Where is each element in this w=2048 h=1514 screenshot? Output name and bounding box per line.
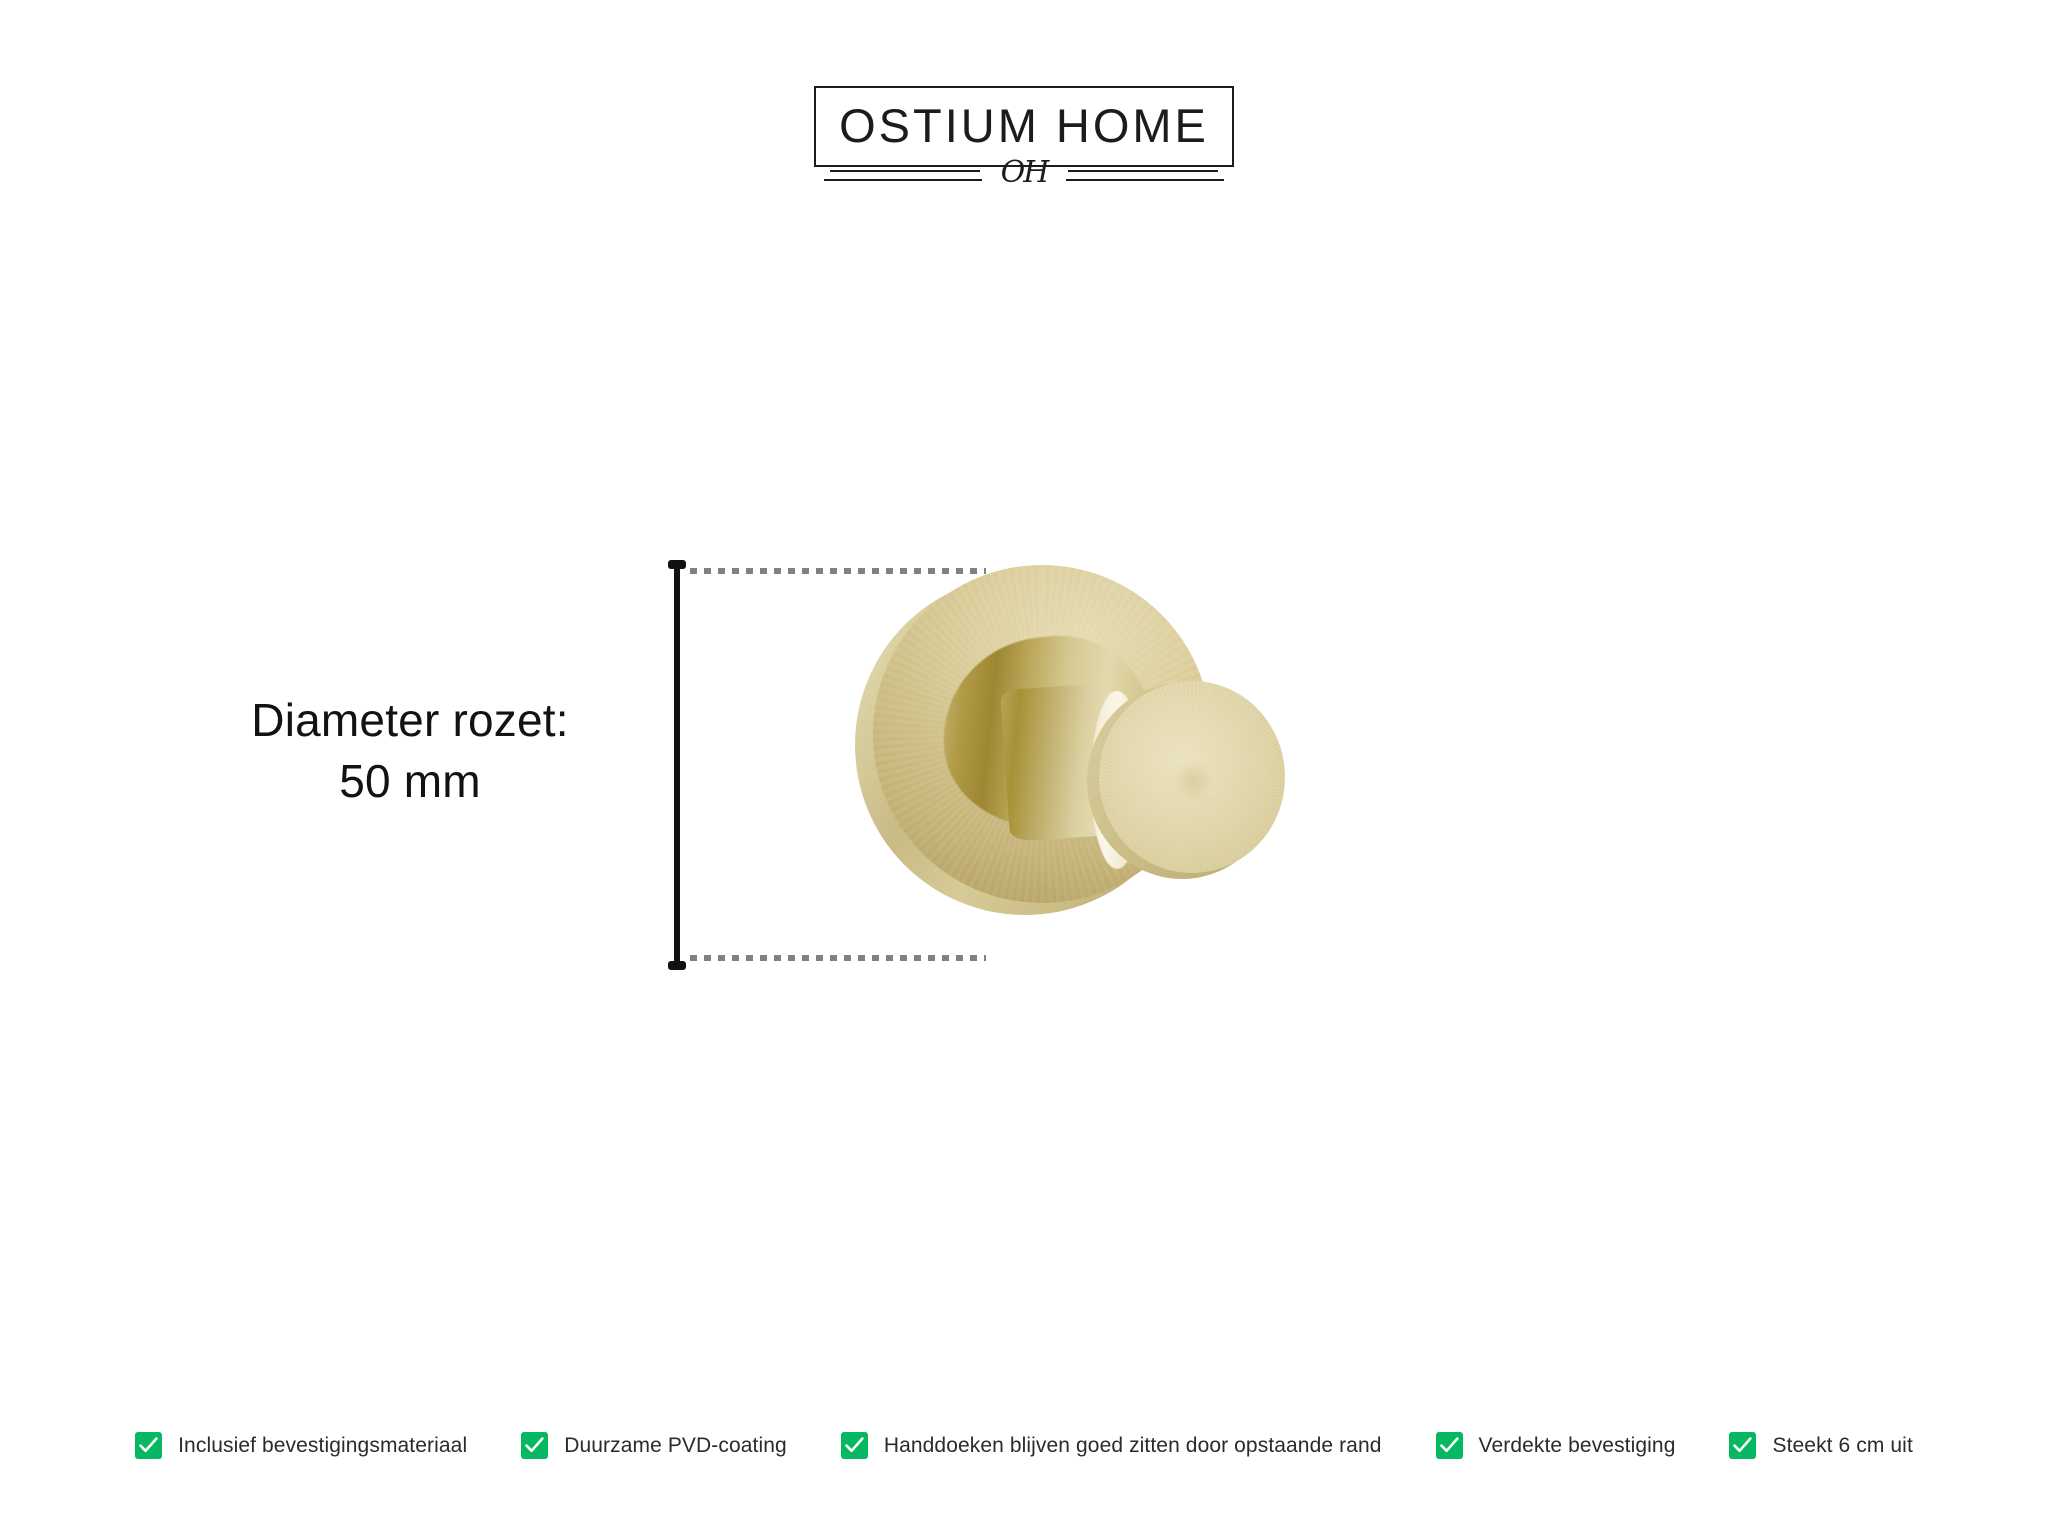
logo-rule-left-upper <box>830 170 980 172</box>
check-icon <box>135 1432 162 1459</box>
feature-item: Duurzame PVD-coating <box>521 1432 787 1459</box>
feature-item: Inclusief bevestigingsmateriaal <box>135 1432 467 1459</box>
dimension-label: Diameter rozet: 50 mm <box>170 690 650 812</box>
feature-item: Verdekte bevestiging <box>1436 1432 1676 1459</box>
logo-rule-right-upper <box>1068 170 1218 172</box>
check-icon <box>1729 1432 1756 1459</box>
feature-bar: Inclusief bevestigingsmateriaal Duurzame… <box>0 1432 2048 1459</box>
logo-rule-right-lower <box>1066 179 1224 181</box>
check-icon <box>841 1432 868 1459</box>
product-dimension-card: OSTIUM HOME OH Diameter rozet: 50 mm <box>0 0 2048 1514</box>
dimension-label-line1: Diameter rozet: <box>170 690 650 751</box>
brand-monogram: OH <box>1001 155 1048 190</box>
brand-wordmark: OSTIUM HOME <box>826 102 1222 149</box>
dimension-label-line2: 50 mm <box>170 751 650 812</box>
brand-logo: OSTIUM HOME OH <box>814 86 1234 201</box>
product-image-brass-hook <box>855 565 1275 965</box>
dimension-cap-bottom <box>668 961 686 970</box>
check-icon <box>1436 1432 1463 1459</box>
feature-item: Handdoeken blijven goed zitten door opst… <box>841 1432 1382 1459</box>
feature-label: Duurzame PVD-coating <box>564 1434 787 1458</box>
feature-label: Inclusief bevestigingsmateriaal <box>178 1434 467 1458</box>
logo-underbar: OH <box>824 167 1224 201</box>
feature-label: Handdoeken blijven goed zitten door opst… <box>884 1434 1382 1458</box>
dimension-measure-bar <box>668 560 686 970</box>
dimension-shaft <box>674 566 680 964</box>
feature-label: Verdekte bevestiging <box>1479 1434 1676 1458</box>
check-icon <box>521 1432 548 1459</box>
logo-rule-left-lower <box>824 179 982 181</box>
feature-label: Steekt 6 cm uit <box>1772 1434 1912 1458</box>
feature-item: Steekt 6 cm uit <box>1729 1432 1912 1459</box>
hook-knob-brush-vertex <box>1173 761 1213 801</box>
